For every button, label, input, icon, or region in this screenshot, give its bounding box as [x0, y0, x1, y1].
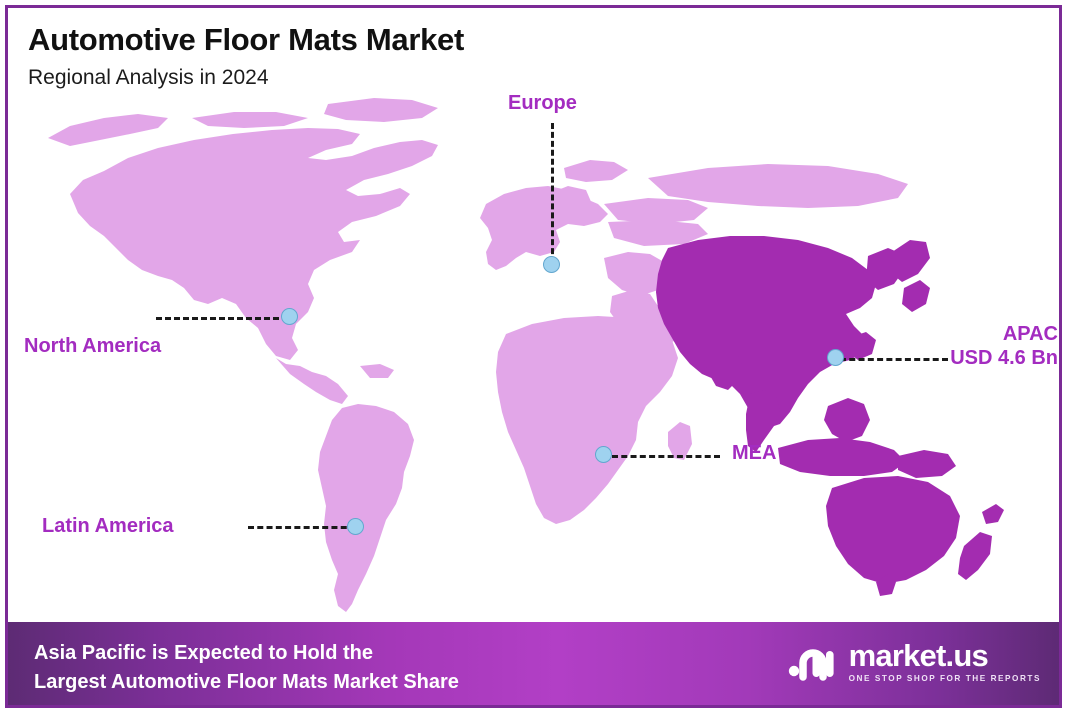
- logo-tagline: ONE STOP SHOP FOR THE REPORTS: [849, 674, 1041, 683]
- connector-mea: [612, 455, 720, 458]
- new-guinea-shape: [898, 450, 956, 478]
- central-america-shape: [276, 358, 348, 404]
- region-label-latin-america: Latin America: [42, 515, 174, 539]
- region-label-europe: Europe: [508, 92, 577, 116]
- south-america-shape: [318, 404, 414, 612]
- market-us-logo-mark: [788, 641, 840, 683]
- map-highlight-apac: [656, 236, 1004, 596]
- logo-wordmark: market.us: [849, 640, 1041, 671]
- marker-latin-america[interactable]: [347, 518, 364, 535]
- scandinavia-north-shape: [564, 160, 628, 182]
- north-america-shape: [70, 128, 438, 360]
- market-us-logo-text: market.us ONE STOP SHOP FOR THE REPORTS: [849, 640, 1041, 683]
- indonesia-shape: [778, 438, 906, 476]
- philippines-shape: [824, 398, 870, 442]
- canada-arctic-shape: [192, 112, 308, 128]
- region-label-apac: APAC USD 4.6 Bn: [920, 323, 1058, 370]
- marker-mea[interactable]: [595, 446, 612, 463]
- marker-apac[interactable]: [827, 349, 844, 366]
- infographic-frame: Automotive Floor Mats Market Regional An…: [5, 5, 1062, 708]
- market-us-logo[interactable]: market.us ONE STOP SHOP FOR THE REPORTS: [788, 640, 1041, 683]
- greenland-shape: [324, 98, 438, 122]
- connector-north-america: [156, 317, 288, 320]
- region-label-north-america: North America: [24, 335, 161, 359]
- caribbean-shape: [360, 364, 394, 378]
- new-zealand-shape: [958, 532, 992, 580]
- world-map: Europe North America Latin America MEA A…: [8, 8, 1062, 628]
- footer-callout-line1: Asia Pacific is Expected to Hold the: [34, 639, 459, 668]
- connector-latin-america: [248, 526, 356, 529]
- alaska-shape: [48, 114, 168, 146]
- marker-europe[interactable]: [543, 256, 560, 273]
- australia-shape: [826, 476, 960, 584]
- new-caledonia-shape: [982, 504, 1004, 524]
- japan-south-shape: [902, 280, 930, 312]
- africa-shape: [496, 316, 678, 524]
- footer-callout-line2: Largest Automotive Floor Mats Market Sha…: [34, 668, 459, 697]
- japan-shape: [890, 240, 930, 282]
- connector-europe: [551, 123, 554, 263]
- region-label-mea: MEA: [732, 442, 776, 466]
- footer-callout: Asia Pacific is Expected to Hold the Lar…: [34, 639, 459, 697]
- footer-banner: Asia Pacific is Expected to Hold the Lar…: [8, 622, 1062, 705]
- region-value-apac: USD 4.6 Bn: [950, 347, 1058, 369]
- marker-north-america[interactable]: [281, 308, 298, 325]
- region-label-apac-name: APAC: [1003, 323, 1058, 345]
